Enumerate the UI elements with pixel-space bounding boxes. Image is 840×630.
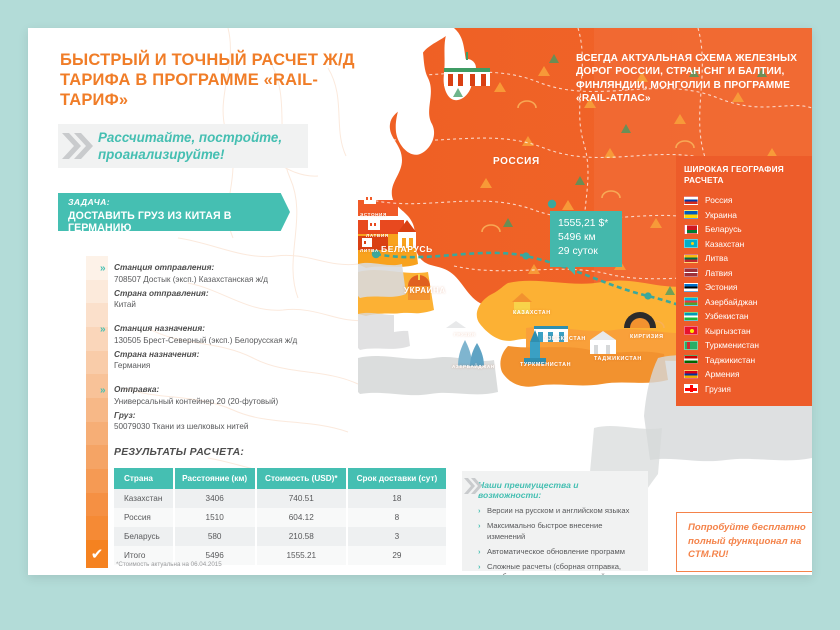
legend-item-russia: Россия xyxy=(684,193,812,208)
chevron-right-icon: » xyxy=(100,324,106,335)
legend-item-armenia: Армения xyxy=(684,367,812,382)
table-cell: Казахстан xyxy=(114,489,174,508)
flag-icon-lithuania xyxy=(684,254,698,263)
table-header-row: Страна Расстояние (км) Стоимость (USD)* … xyxy=(114,468,446,489)
table-row: Беларусь 580 210.58 3 xyxy=(114,527,446,546)
detail-value: 130505 Брест-Северный (эксп.) Белорусска… xyxy=(114,335,354,347)
legend-item-label: Армения xyxy=(705,369,740,379)
table-footnote: *Стоимость актуальна на 06.04.2015 xyxy=(116,561,222,568)
chevron-right-icon: › xyxy=(478,521,481,532)
legend-item-label: Эстония xyxy=(705,282,737,292)
shipment-details: » Станция отправления: 708507 Достык (эк… xyxy=(114,262,354,445)
flag-icon-estonia xyxy=(684,283,698,292)
table-header-cell: Страна xyxy=(114,468,174,489)
flag-icon-ukraine xyxy=(684,210,698,219)
results-title: РЕЗУЛЬТАТЫ РАСЧЕТА: xyxy=(114,447,244,458)
table-cell: Россия xyxy=(114,508,174,527)
legend-item-label: Туркменистан xyxy=(705,340,759,350)
table-cell: 1510 xyxy=(174,508,256,527)
detail-label: Отправка: xyxy=(114,384,354,396)
legend-item-label: Украина xyxy=(705,210,737,220)
country-legend: ШИРОКАЯ ГЕОГРАФИЯ РАСЧЕТА Россия Украина… xyxy=(676,156,812,406)
table-row: Россия 1510 604.12 8 xyxy=(114,508,446,527)
table-cell: 3406 xyxy=(174,489,256,508)
chevron-right-icon: › xyxy=(478,547,481,558)
chevron-right-icon: » xyxy=(100,263,106,274)
table-cell: 3 xyxy=(347,527,446,546)
detail-group: » Станция отправления: 708507 Достык (эк… xyxy=(114,262,354,311)
legend-item-belarus: Беларусь xyxy=(684,222,812,237)
table-header-cell: Расстояние (км) xyxy=(174,468,256,489)
advantage-item: › Автоматическое обновление программ xyxy=(478,547,640,558)
flag-icon-uzbekistan xyxy=(684,312,698,321)
bubble-price: 1555,21 $* xyxy=(558,217,622,231)
route-summary-bubble: 1555,21 $* 5496 км 29 суток xyxy=(550,211,622,267)
flag-icon-tajikistan xyxy=(684,355,698,364)
legend-item-label: Грузия xyxy=(705,384,731,394)
table-cell: 1555.21 xyxy=(256,546,347,565)
detail-value: 708507 Достык (эксп.) Казахстанская ж/д xyxy=(114,274,354,286)
cta-box[interactable]: Попробуйте бесплатно полный функционал н… xyxy=(676,512,812,572)
legend-item-tajikistan: Таджикистан xyxy=(684,353,812,368)
left-panel: БЫСТРЫЙ И ТОЧНЫЙ РАСЧЕТ Ж/Д ТАРИФА В ПРО… xyxy=(28,28,428,575)
flag-icon-armenia xyxy=(684,370,698,379)
tagline-box: Рассчитайте, постройте, проанализируйте! xyxy=(58,124,308,168)
flag-icon-turkmenistan xyxy=(684,341,698,350)
legend-item-ukraine: Украина xyxy=(684,208,812,223)
legend-item-turkmenistan: Туркменистан xyxy=(684,338,812,353)
tagline-text: Рассчитайте, постройте, проанализируйте! xyxy=(98,130,303,163)
detail-value: Китай xyxy=(114,299,354,311)
legend-item-label: Азербайджан xyxy=(705,297,757,307)
table-cell: Беларусь xyxy=(114,527,174,546)
legend-title: ШИРОКАЯ ГЕОГРАФИЯ РАСЧЕТА xyxy=(684,164,812,186)
advantage-text: Максимально быстрое внесение изменений xyxy=(487,521,602,541)
legend-item-georgia: Грузия xyxy=(684,382,812,397)
bubble-distance: 5496 км xyxy=(558,231,622,245)
flag-icon-russia xyxy=(684,196,698,205)
detail-label: Станция назначения: xyxy=(114,323,354,335)
legend-item-lithuania: Литва xyxy=(684,251,812,266)
table-cell: 580 xyxy=(174,527,256,546)
chevron-right-icon: » xyxy=(100,385,106,396)
flag-icon-kyrgyzstan xyxy=(684,326,698,335)
advantages-box: Наши преимущества и возможности: › Верси… xyxy=(462,471,648,571)
legend-item-label: Россия xyxy=(705,195,732,205)
table-cell: 740.51 xyxy=(256,489,347,508)
legend-item-uzbekistan: Узбекистан xyxy=(684,309,812,324)
flag-icon-belarus xyxy=(684,225,698,234)
advantage-text: Версии на русском и английском языках xyxy=(487,506,629,515)
legend-item-estonia: Эстония xyxy=(684,280,812,295)
legend-item-latvia: Латвия xyxy=(684,266,812,281)
detail-value: 50079030 Ткани из шелковых нитей xyxy=(114,421,354,433)
orange-gradient-strip: ✔ xyxy=(86,256,108,568)
advantages-title: Наши преимущества и возможности: xyxy=(478,480,640,500)
flag-icon-latvia xyxy=(684,268,698,277)
table-cell: 8 xyxy=(347,508,446,527)
legend-item-label: Таджикистан xyxy=(705,355,755,365)
legend-item-label: Литва xyxy=(705,253,728,263)
advantage-item: › Максимально быстрое внесение изменений xyxy=(478,521,640,542)
table-header-cell: Стоимость (USD)* xyxy=(256,468,347,489)
table-cell: 29 xyxy=(347,546,446,565)
table-header-cell: Срок доставки (сут) xyxy=(347,468,446,489)
table-cell: 210.58 xyxy=(256,527,347,546)
check-icon: ✔ xyxy=(86,540,108,568)
advantage-item: › Сложные расчеты (сборная отправка, нег… xyxy=(478,562,640,576)
legend-item-label: Беларусь xyxy=(705,224,742,234)
task-text: ДОСТАВИТЬ ГРУЗ ИЗ КИТАЯ В ГЕРМАНИЮ xyxy=(68,210,282,234)
detail-label: Станция отправления: xyxy=(114,262,354,274)
page-title: БЫСТРЫЙ И ТОЧНЫЙ РАСЧЕТ Ж/Д ТАРИФА В ПРО… xyxy=(60,50,360,110)
flag-icon-kazakhstan xyxy=(684,239,698,248)
detail-label: Страна назначения: xyxy=(114,349,354,361)
chevron-double-right-icon xyxy=(60,130,94,162)
table-cell: 18 xyxy=(347,489,446,508)
detail-value: Универсальный контейнер 20 (20-футовый) xyxy=(114,396,354,408)
detail-label: Груз: xyxy=(114,410,354,422)
task-banner: ЗАДАЧА: ДОСТАВИТЬ ГРУЗ ИЗ КИТАЯ В ГЕРМАН… xyxy=(58,193,290,231)
detail-group: » Отправка: Универсальный контейнер 20 (… xyxy=(114,384,354,433)
chevron-right-icon: › xyxy=(478,562,481,573)
detail-value: Германия xyxy=(114,360,354,372)
table-cell: 604.12 xyxy=(256,508,347,527)
legend-item-label: Казахстан xyxy=(705,239,744,249)
detail-group: » Станция назначения: 130505 Брест-Север… xyxy=(114,323,354,372)
flag-icon-azerbaijan xyxy=(684,297,698,306)
detail-label: Страна отправления: xyxy=(114,288,354,300)
legend-item-kyrgyzstan: Кыргызстан xyxy=(684,324,812,339)
chevron-right-icon: › xyxy=(478,506,481,517)
bubble-duration: 29 суток xyxy=(558,245,622,259)
advantage-text: Сложные расчеты (сборная отправка, негаб… xyxy=(487,562,631,576)
task-label: ЗАДАЧА: xyxy=(68,197,282,207)
legend-item-label: Латвия xyxy=(705,268,732,278)
table-row: Казахстан 3406 740.51 18 xyxy=(114,489,446,508)
map-headline: ВСЕГДА АКТУАЛЬНАЯ СХЕМА ЖЕЛЕЗНЫХ ДОРОГ Р… xyxy=(576,52,812,106)
results-table: Страна Расстояние (км) Стоимость (USD)* … xyxy=(114,468,446,565)
chevron-double-right-icon xyxy=(463,476,483,496)
legend-item-azerbaijan: Азербайджан xyxy=(684,295,812,310)
infographic-card: РОССИЯ БЕЛАРУСЬ УКРАИНА ЭСТОНИЯ ЛАТВИЯ Л… xyxy=(28,28,812,575)
legend-item-label: Кыргызстан xyxy=(705,326,751,336)
legend-item-label: Узбекистан xyxy=(705,311,749,321)
flag-icon-georgia xyxy=(684,384,698,393)
legend-item-kazakhstan: Казахстан xyxy=(684,237,812,252)
advantage-item: › Версии на русском и английском языках xyxy=(478,506,640,517)
advantage-text: Автоматическое обновление программ xyxy=(487,547,625,556)
